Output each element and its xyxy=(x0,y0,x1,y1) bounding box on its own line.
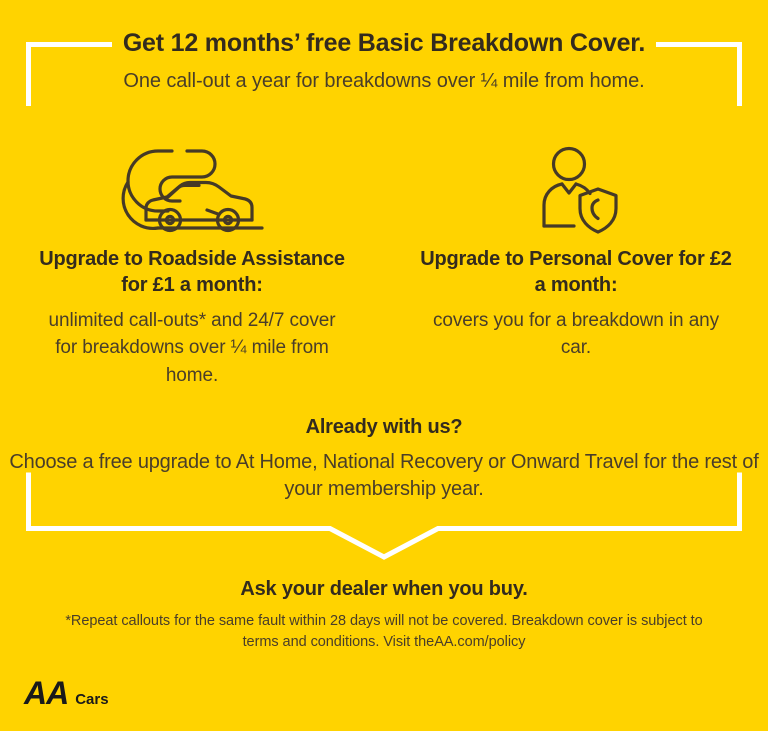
upgrade-heading-roadside: Upgrade to Roadside Assistance for £1 a … xyxy=(30,246,354,299)
promo-poster: Get 12 months’ free Basic Breakdown Cove… xyxy=(0,0,768,731)
upgrade-body-roadside: unlimited call-outs* and 24/7 cover for … xyxy=(30,307,354,390)
upgrade-column-personal: Upgrade to Personal Cover for £2 a month… xyxy=(384,140,768,362)
already-with-us-section: Already with us? Choose a free upgrade t… xyxy=(0,416,768,503)
footer: Ask your dealer when you buy. *Repeat ca… xyxy=(0,578,768,652)
already-with-us-body: Choose a free upgrade to At Home, Nation… xyxy=(0,449,768,503)
upgrade-body-personal: covers you for a breakdown in any car. xyxy=(414,307,738,362)
upgrade-columns: Upgrade to Roadside Assistance for £1 a … xyxy=(0,140,768,389)
aa-logo-mark: AA xyxy=(24,677,68,709)
aa-logo-wordmark: Cars xyxy=(75,692,108,707)
upgrade-column-roadside: Upgrade to Roadside Assistance for £1 a … xyxy=(0,140,384,389)
header-subtitle: One call-out a year for breakdowns over … xyxy=(0,69,768,94)
person-with-shield-icon xyxy=(414,140,738,240)
header: Get 12 months’ free Basic Breakdown Cove… xyxy=(0,28,768,94)
aa-cars-logo: AA Cars xyxy=(24,677,109,709)
already-with-us-title: Already with us? xyxy=(0,416,768,439)
car-on-winding-road-icon xyxy=(30,140,354,240)
footer-cta-title: Ask your dealer when you buy. xyxy=(0,578,768,601)
page-title: Get 12 months’ free Basic Breakdown Cove… xyxy=(0,28,768,59)
footer-disclaimer: *Repeat callouts for the same fault with… xyxy=(0,611,768,652)
upgrade-heading-personal: Upgrade to Personal Cover for £2 a month… xyxy=(414,246,738,299)
